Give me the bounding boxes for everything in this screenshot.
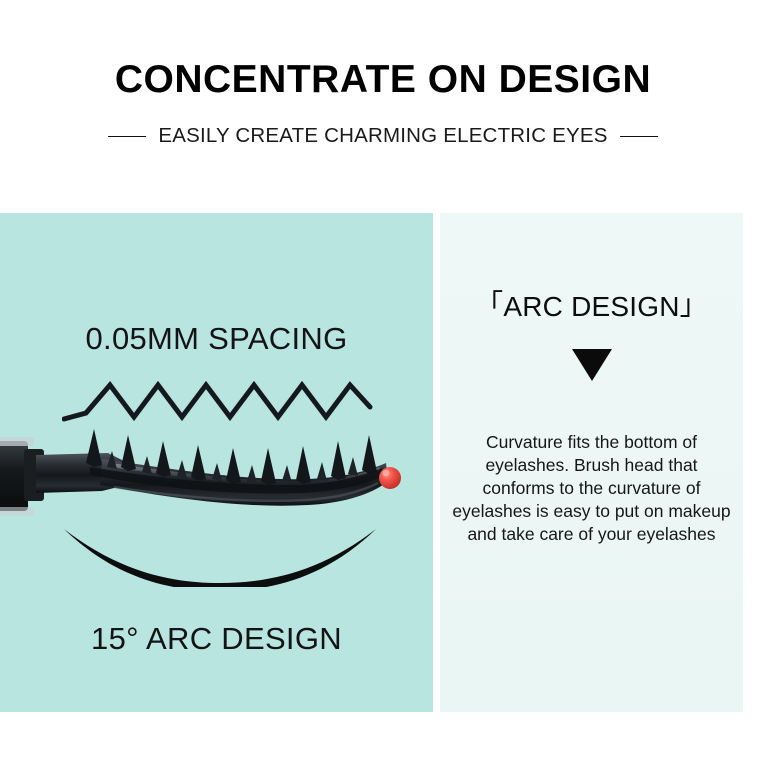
arc-design-body-text: Curvature fits the bottom of eyelashes. … xyxy=(448,431,735,546)
arc-design-label: 15° ARC DESIGN xyxy=(0,621,433,657)
subtitle-text: EASILY CREATE CHARMING ELECTRIC EYES xyxy=(158,124,607,148)
subtitle-row: EASILY CREATE CHARMING ELECTRIC EYES xyxy=(0,124,766,148)
header-section: CONCENTRATE ON DESIGN EASILY CREATE CHAR… xyxy=(0,0,766,213)
arc-curve-icon xyxy=(60,523,380,592)
subtitle-left-rule xyxy=(108,136,146,137)
right-feature-panel: 「ARC DESIGN」 Curvature fits the bottom o… xyxy=(440,213,743,712)
corner-bracket-open: 「 xyxy=(475,291,503,319)
down-triangle-icon xyxy=(440,349,743,381)
feature-panels: 0.05MM SPACING xyxy=(0,213,766,712)
spacing-label: 0.05MM SPACING xyxy=(0,321,433,357)
page-title: CONCENTRATE ON DESIGN xyxy=(0,55,766,105)
corner-bracket-close: 」 xyxy=(680,291,708,319)
zigzag-line-icon xyxy=(62,373,374,430)
subtitle-right-rule xyxy=(620,136,658,137)
left-feature-panel: 0.05MM SPACING xyxy=(0,213,433,712)
arc-design-heading: 「ARC DESIGN」 xyxy=(440,291,743,323)
arc-design-heading-text: ARC DESIGN xyxy=(503,291,679,322)
